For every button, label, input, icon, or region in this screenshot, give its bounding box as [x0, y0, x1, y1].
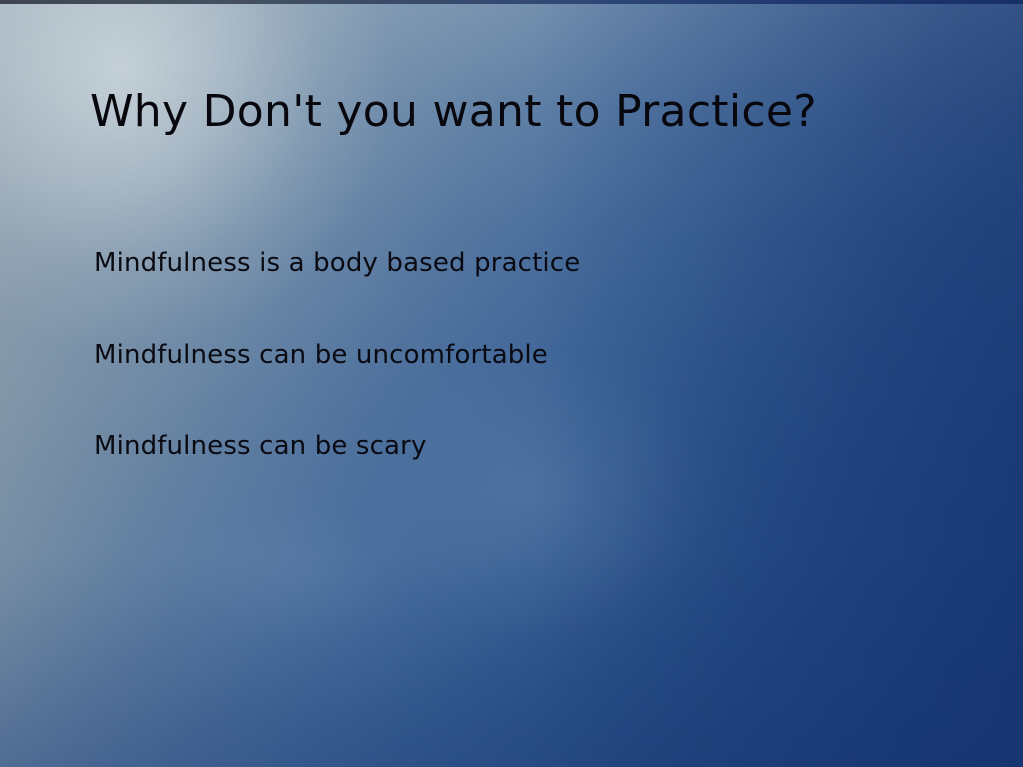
- slide-content: Why Don't you want to Practice? Mindfuln…: [0, 0, 1023, 767]
- slide-body: Mindfulness is a body based practice Min…: [94, 248, 924, 462]
- presentation-slide: Why Don't you want to Practice? Mindfuln…: [0, 0, 1023, 767]
- body-line-3: Mindfulness can be scary: [94, 431, 924, 462]
- slide-title: Why Don't you want to Practice?: [90, 86, 950, 137]
- body-line-2: Mindfulness can be uncomfortable: [94, 340, 924, 371]
- body-line-1: Mindfulness is a body based practice: [94, 248, 924, 279]
